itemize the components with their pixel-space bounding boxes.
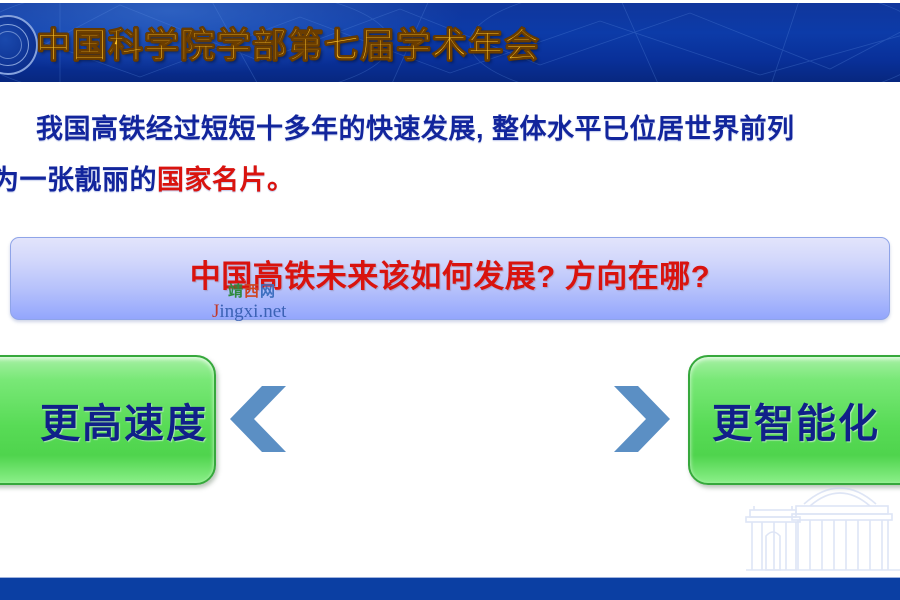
slide-root: 中国科学院学部第七届学术年会 我国高铁经过短短十多年的快速发展, 整体水平已位居… <box>0 0 900 600</box>
chevron-left-icon <box>224 384 286 454</box>
left-green-box: 更高速度 <box>0 355 216 485</box>
body-paragraph: 我国高铁经过短短十多年的快速发展, 整体水平已位居世界前列 为一张靓丽的国家名片… <box>0 103 900 207</box>
question-banner-text: 中国高铁未来该如何发展? 方向在哪? <box>190 251 710 296</box>
header-banner: 中国科学院学部第七届学术年会 <box>0 3 900 82</box>
chevron-right-icon <box>614 384 676 454</box>
paragraph-highlight: 国家名片 <box>157 165 267 195</box>
paragraph-line-2-suffix: 。 <box>267 165 295 195</box>
left-green-box-label: 更高速度 <box>40 391 214 449</box>
paragraph-line-2-prefix: 为一张靓丽的 <box>0 165 157 195</box>
question-banner: 中国高铁未来该如何发展? 方向在哪? <box>10 237 890 320</box>
page-title: 中国科学院学部第七届学术年会 <box>36 17 540 68</box>
classical-building-outline-icon <box>722 470 900 578</box>
right-green-box: 更智能化 <box>688 355 900 485</box>
paragraph-line-1: 我国高铁经过短短十多年的快速发展, 整体水平已位居世界前列 <box>0 103 900 156</box>
footer-bar <box>0 578 900 600</box>
right-green-box-label: 更智能化 <box>690 391 880 449</box>
paragraph-line-2: 为一张靓丽的国家名片。 <box>0 154 900 207</box>
